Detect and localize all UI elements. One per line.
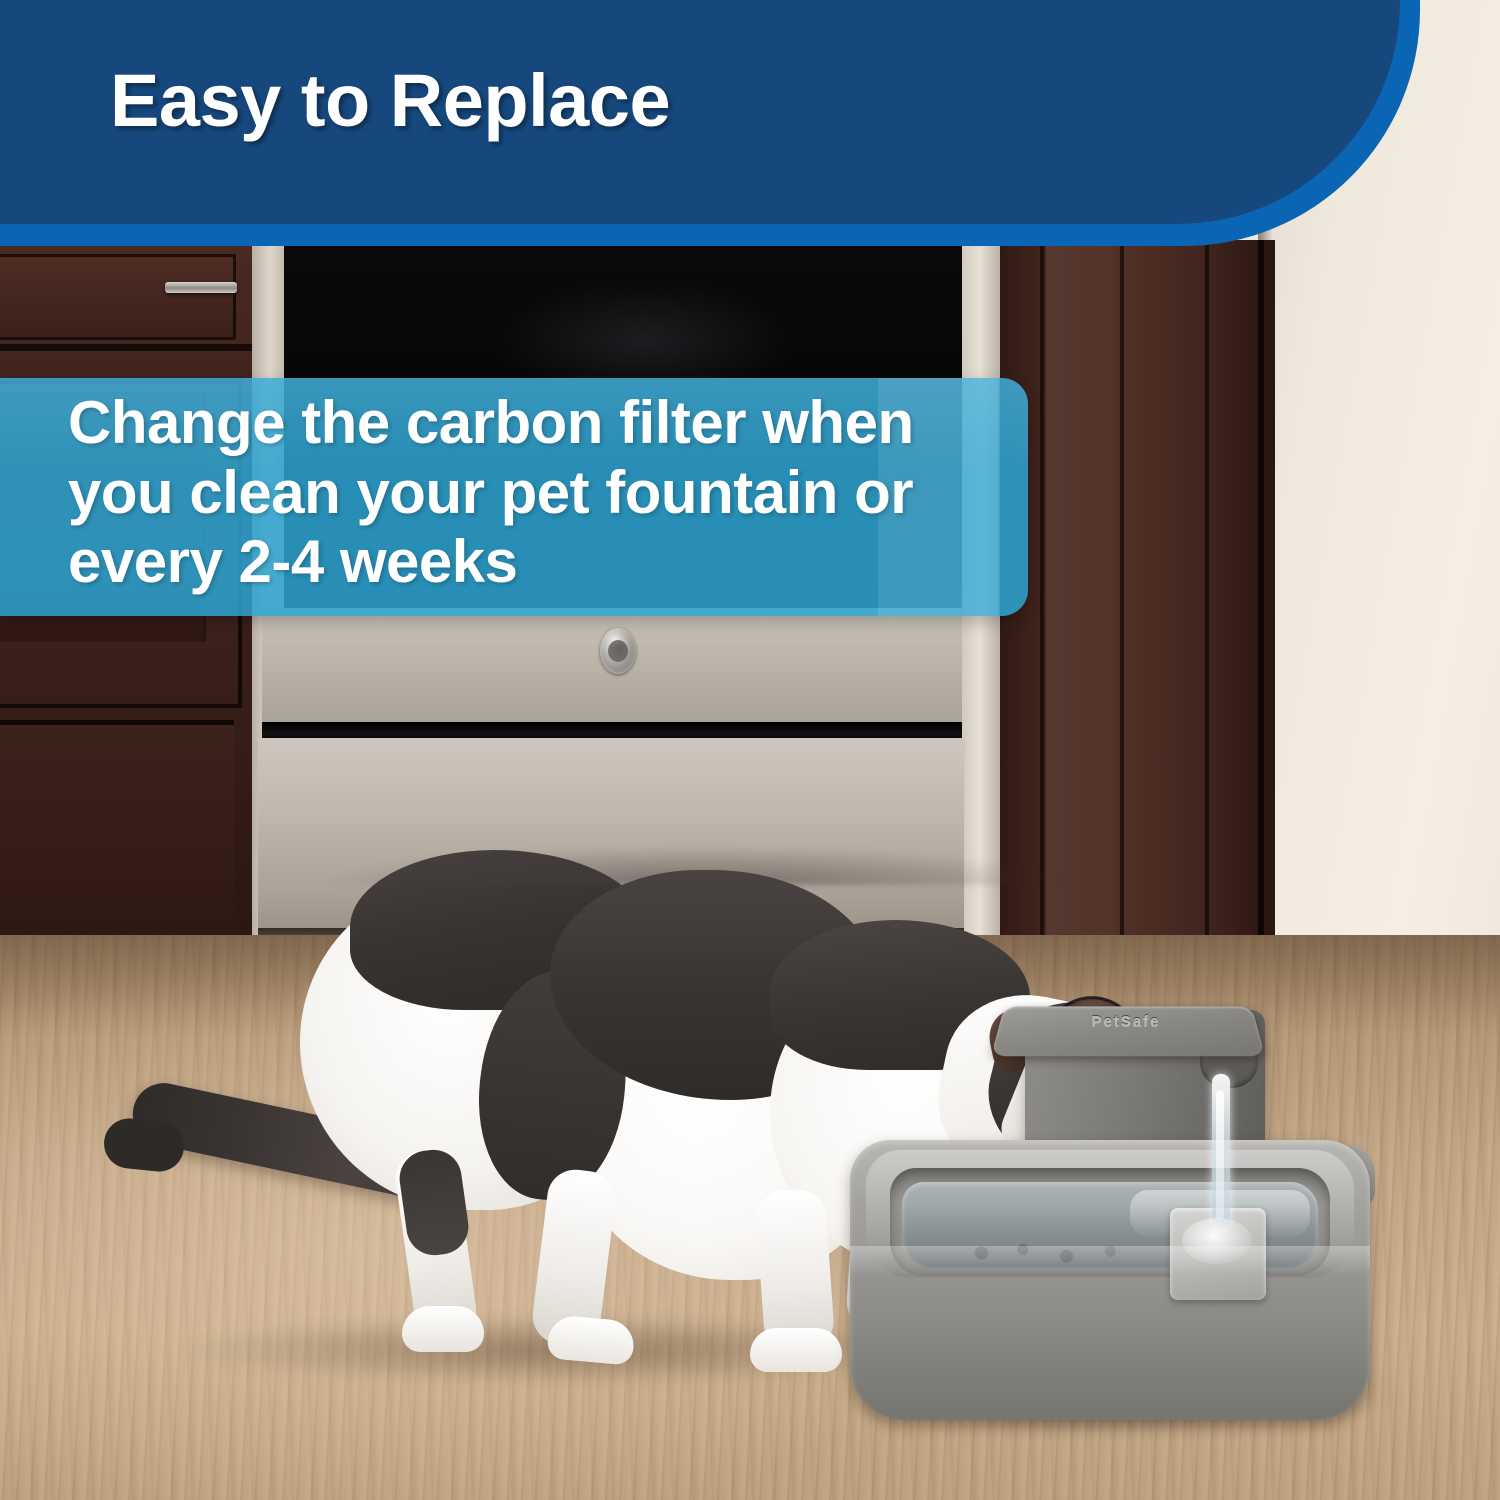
callout-line-3: every 2-4 weeks [68, 527, 998, 597]
cat-fur-edge [320, 845, 1080, 885]
header-banner: Easy to Replace [0, 0, 1500, 250]
page-title: Easy to Replace [110, 62, 670, 140]
callout-line-1: Change the carbon filter when [68, 388, 998, 458]
cabinet-drawer-panel [0, 254, 236, 340]
cat-paw [750, 1328, 842, 1372]
promotional-image: PetSafe Easy to Replace Change the carbo… [0, 0, 1500, 1500]
brand-logo: PetSafe [1026, 1014, 1226, 1030]
appliance-brand-badge [600, 628, 636, 674]
callout-line-2: you clean your pet fountain or [68, 458, 998, 528]
cat-paw [546, 1314, 636, 1365]
fountain-front-lip [850, 1246, 1370, 1276]
fountain-water-stream-highlight [1216, 1090, 1224, 1220]
pet-water-fountain: PetSafe [830, 1000, 1400, 1430]
cabinet-drawer-seam [0, 344, 252, 351]
cat-paw [402, 1306, 484, 1352]
cabinet-handle [165, 282, 237, 293]
callout-text: Change the carbon filter when you clean … [68, 388, 998, 597]
